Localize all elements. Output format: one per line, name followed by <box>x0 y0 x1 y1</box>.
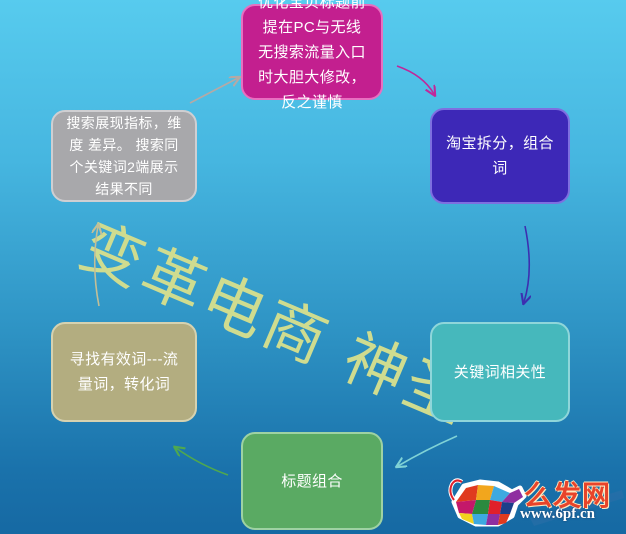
node-keyword-relevance[interactable]: 关键词相关性 <box>430 322 570 422</box>
arrow-title-to-split <box>397 66 434 94</box>
node-relevance-label: 关键词相关性 <box>454 360 546 385</box>
arrow-metrics-to-title <box>190 78 238 103</box>
node-combine-label: 标题组合 <box>281 469 343 494</box>
node-split-label: 淘宝拆分，组合词 <box>444 131 556 181</box>
arrow-effective-to-metrics <box>95 226 99 306</box>
arrow-combine-to-effective <box>176 448 228 475</box>
node-search-metrics[interactable]: 搜索展现指标，维度 差异。 搜索同个关键词2端展示结果不同 <box>51 110 197 202</box>
node-taobao-split[interactable]: 淘宝拆分，组合词 <box>430 108 570 204</box>
node-effective-words[interactable]: 寻找有效词---流量词，转化词 <box>51 322 197 422</box>
diagram-canvas: 变革电商 神圣 <box>0 0 626 534</box>
node-title-label: 优化宝贝标题前提在PC与无线无搜索流量入口时大胆大修改，反之谨慎 <box>255 0 369 115</box>
bull-icon <box>450 480 524 525</box>
node-title-optimization[interactable]: 优化宝贝标题前提在PC与无线无搜索流量入口时大胆大修改，反之谨慎 <box>241 4 383 100</box>
node-metrics-label: 搜索展现指标，维度 差异。 搜索同个关键词2端展示结果不同 <box>65 112 183 200</box>
node-effective-label: 寻找有效词---流量词，转化词 <box>65 347 183 397</box>
arrow-split-to-relevance <box>524 226 529 302</box>
node-title-combination[interactable]: 标题组合 <box>241 432 383 530</box>
logo-url[interactable]: www.6pf.cn <box>520 506 595 523</box>
arrow-relevance-to-combine <box>398 436 457 466</box>
